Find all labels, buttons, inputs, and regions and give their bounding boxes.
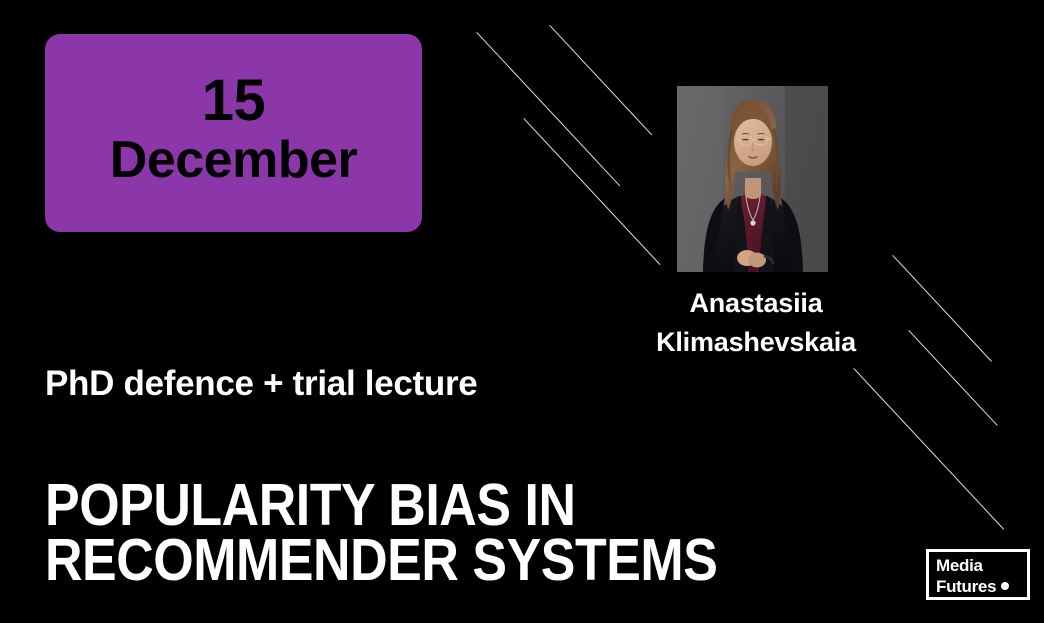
speaker-name-line-2: Klimashevskaia [656,327,856,357]
diagonal-stripe-4 [892,255,992,362]
diagonal-stripe-2 [549,25,652,135]
portrait-illustration [677,86,828,272]
logo-line-1: Media [936,555,1027,576]
date-badge: 15 December [45,34,422,232]
diagonal-stripe-1 [476,32,620,186]
date-badge-month: December [110,130,357,190]
logo-line-2-wrapper: Futures [936,576,1027,597]
speaker-name-line-1: Anastasiia [689,288,822,318]
diagonal-stripe-5 [908,330,997,426]
diagonal-stripe-6 [853,368,1004,530]
event-headline-line-2: Recommender systems [45,533,837,588]
logo-dot-icon [1001,582,1009,590]
date-badge-day: 15 [202,71,266,130]
event-poster: 15 December [0,0,1044,623]
logo-line-2: Futures [936,576,996,597]
diagonal-stripe-3 [523,118,660,265]
event-subtitle: PhD defence + trial lecture [45,364,477,404]
speaker-photo [677,86,828,272]
event-headline-line-1: Popularity bias in [45,478,837,533]
mediafutures-logo: Media Futures [926,549,1030,600]
speaker-name: Anastasiia Klimashevskaia [620,284,892,361]
event-headline: Popularity bias in Recommender systems [45,478,837,588]
